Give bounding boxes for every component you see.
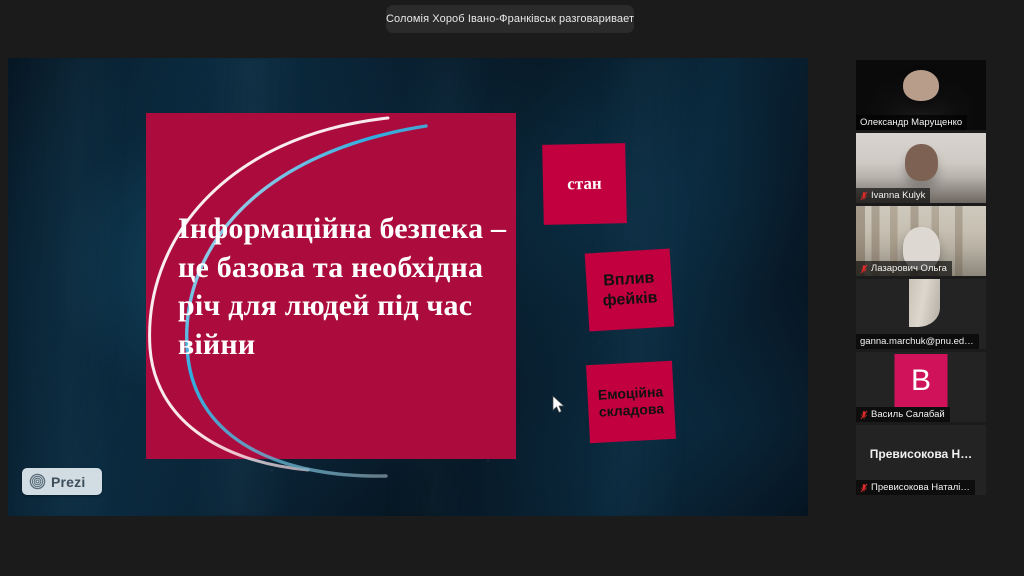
- mic-muted-icon: [860, 191, 868, 201]
- participant-tile[interactable]: Лазарович Ольга: [856, 206, 986, 276]
- sticky-note-label: стан: [567, 174, 602, 195]
- participant-name-badge: ganna.marchuk@pnu.ed…: [856, 334, 979, 349]
- avatar-initial: В: [911, 364, 931, 398]
- participant-display-name: Превисокова Н…: [856, 447, 986, 461]
- participant-name-badge: Олександр Марущенко: [856, 115, 967, 130]
- participant-name-label: Василь Салабай: [871, 409, 945, 420]
- participant-name-label: Лазарович Ольга: [871, 263, 947, 274]
- participant-name-badge: Ivanna Kulyk: [856, 188, 930, 203]
- mouse-pointer-icon: [552, 395, 566, 414]
- sticky-note-vplyv-feykiv[interactable]: Вплив фейків: [585, 248, 675, 331]
- mic-muted-icon: [860, 410, 868, 420]
- participant-name-label: ganna.marchuk@pnu.ed…: [860, 336, 974, 347]
- participant-tile[interactable]: Олександр Марущенко: [856, 60, 986, 130]
- participant-name-badge: Лазарович Ольга: [856, 261, 952, 276]
- participant-tile[interactable]: Ivanna Kulyk: [856, 133, 986, 203]
- sticky-note-label: Вплив фейків: [586, 268, 673, 312]
- shared-screen-stage[interactable]: Інформаційна безпека – це базова та необ…: [8, 58, 808, 516]
- zoom-meeting-window: Соломія Хороб Івано-Франківськ разговари…: [0, 0, 1024, 576]
- prezi-badge[interactable]: Prezi: [22, 468, 102, 495]
- participant-tile[interactable]: Превисокова Н… Превисокова Наталі…: [856, 425, 986, 495]
- prezi-logo-icon: [29, 473, 46, 490]
- mic-muted-icon: [860, 264, 868, 274]
- participant-tile[interactable]: В Василь Салабай: [856, 352, 986, 422]
- participant-name-label: Ivanna Kulyk: [871, 190, 925, 201]
- sticky-note-label: Емоційна складова: [587, 382, 675, 421]
- participant-name-badge: Превисокова Наталі…: [856, 480, 975, 495]
- sticky-note-emotsiyna-skladova[interactable]: Емоційна складова: [586, 361, 676, 443]
- participant-name-label: Превисокова Наталі…: [871, 482, 970, 493]
- slide-title-text: Інформаційна безпека – це базова та необ…: [178, 210, 508, 365]
- prezi-badge-label: Prezi: [51, 474, 85, 490]
- participant-name-badge: Василь Салабай: [856, 407, 950, 422]
- participant-name-label: Олександр Марущенко: [860, 117, 962, 128]
- participant-tile[interactable]: ganna.marchuk@pnu.ed…: [856, 279, 986, 349]
- sticky-note-stan[interactable]: стан: [542, 143, 627, 225]
- avatar: В: [895, 354, 948, 407]
- active-speaker-banner: Соломія Хороб Івано-Франківськ разговари…: [386, 5, 634, 33]
- participant-filmstrip[interactable]: Олександр Марущенко Ivanna Kulyk: [856, 60, 986, 508]
- active-speaker-label: Соломія Хороб Івано-Франківськ разговари…: [386, 13, 634, 25]
- mic-muted-icon: [860, 483, 868, 493]
